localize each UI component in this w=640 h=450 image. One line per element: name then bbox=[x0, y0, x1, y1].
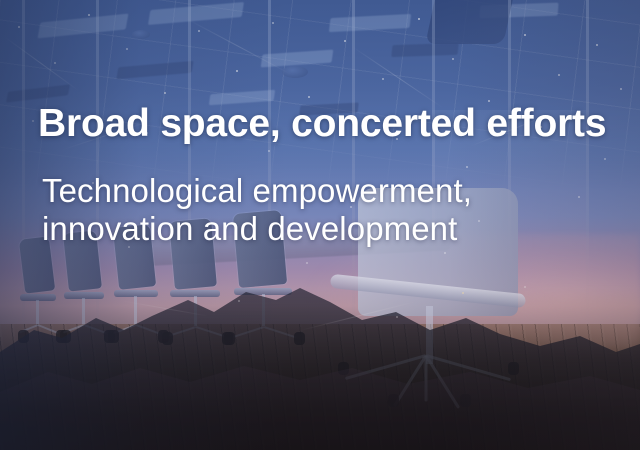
banner-copy: Broad space, concerted efforts Technolog… bbox=[38, 104, 608, 248]
banner-headline: Broad space, concerted efforts bbox=[38, 104, 608, 144]
banner-subtitle-line-2: innovation and development bbox=[42, 210, 608, 248]
hero-banner: Broad space, concerted efforts Technolog… bbox=[0, 0, 640, 450]
banner-subtitle: Technological empowerment, innovation an… bbox=[42, 172, 608, 248]
banner-subtitle-line-1: Technological empowerment, bbox=[42, 172, 608, 210]
